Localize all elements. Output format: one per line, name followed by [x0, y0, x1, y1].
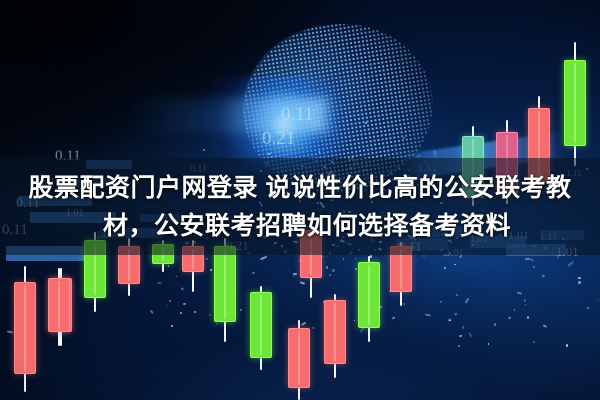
banner-image: 0.110.210.111.011.010.111.010.111.011.11…: [0, 0, 600, 400]
vignette-overlay: [0, 0, 600, 400]
